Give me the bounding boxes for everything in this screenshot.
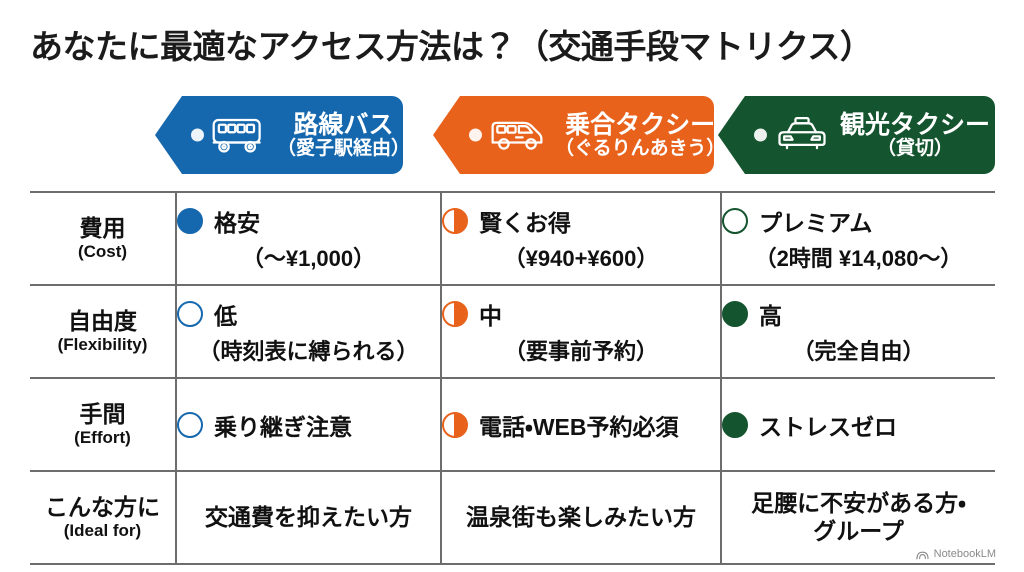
- cell-sub-text: （¥940+¥600）: [442, 241, 720, 273]
- rating-half-icon: [442, 412, 468, 438]
- cell-primary: 賢くお得: [442, 204, 720, 238]
- row-label-jp: 手間: [30, 402, 175, 428]
- cell-bus-2: 乗り継ぎ注意: [176, 378, 441, 471]
- column-header-van[interactable]: 乗合タクシー （ぐるりんあきう）: [433, 96, 714, 174]
- column-header-van-subtitle: （ぐるりんあきう）: [555, 139, 714, 159]
- row-label-en: (Cost): [30, 242, 175, 261]
- column-header-taxi-subtitle: （貸切）: [877, 139, 953, 159]
- cell-primary: 中: [442, 297, 720, 331]
- tag-hole-icon: [191, 129, 204, 142]
- cell-main-text: 足腰に不安がある方・グループ: [730, 490, 987, 545]
- rating-empty-icon: [722, 208, 748, 234]
- column-header-bus-text: 路線バス （愛子駅経由）: [277, 112, 403, 159]
- rating-half-icon: [442, 301, 468, 327]
- cell-primary: 乗り継ぎ注意: [177, 408, 440, 442]
- cell-van-1: 中（要事前予約）: [441, 285, 721, 378]
- cell-main-text: 電話・WEB予約必須: [479, 408, 678, 442]
- cell-primary: 高: [722, 297, 995, 331]
- tag-hole-icon: [754, 129, 767, 142]
- rating-half-fill: [454, 208, 466, 234]
- cell-taxi-2: ストレスゼロ: [721, 378, 995, 471]
- row-label-en: (Ideal for): [30, 521, 175, 540]
- cell-primary: 格安: [177, 204, 440, 238]
- cell-main-text: 交通費を抑えたい方: [185, 504, 432, 532]
- notebooklm-label: NotebookLM: [934, 548, 996, 560]
- cell-primary: ストレスゼロ: [722, 408, 995, 442]
- cell-main-text: 乗り継ぎ注意: [214, 408, 352, 442]
- rating-empty-icon: [177, 412, 203, 438]
- row-label-en: (Flexibility): [30, 335, 175, 354]
- cell-taxi-0: プレミアム（2時間 ¥14,080〜）: [721, 192, 995, 285]
- column-header-bus[interactable]: 路線バス （愛子駅経由）: [155, 96, 403, 174]
- tag-hole-icon: [469, 129, 482, 142]
- cell-main-text: 中: [479, 297, 502, 331]
- rating-half-icon: [442, 208, 468, 234]
- table-row: こんな方に(Ideal for)交通費を抑えたい方温泉街も楽しみたい方足腰に不安…: [30, 471, 995, 564]
- cell-main-text: ストレスゼロ: [759, 408, 897, 442]
- row-label-jp: 自由度: [30, 309, 175, 335]
- row-label-2: 手間(Effort): [30, 378, 176, 471]
- cell-primary: 電話・WEB予約必須: [442, 408, 720, 442]
- cell-primary: 低: [177, 297, 440, 331]
- cell-ideal-bus: 交通費を抑えたい方: [176, 471, 441, 564]
- cell-main-text: 高: [759, 297, 782, 331]
- column-header-taxi[interactable]: 観光タクシー （貸切）: [718, 96, 995, 174]
- table-row: 手間(Effort)乗り継ぎ注意電話・WEB予約必須ストレスゼロ: [30, 378, 995, 471]
- rating-full-icon: [722, 412, 748, 438]
- column-header-taxi-title: 観光タクシー: [840, 112, 990, 138]
- column-header-row: 路線バス （愛子駅経由） 乗合タクシー （ぐるりんあきう）: [0, 96, 1024, 174]
- page-title: あなたに最適なアクセス方法は？（交通手段マトリクス）: [30, 20, 872, 68]
- cell-bus-1: 低（時刻表に縛られる）: [176, 285, 441, 378]
- row-label-ideal: こんな方に(Ideal for): [30, 471, 176, 564]
- cell-main-text: プレミアム: [759, 204, 872, 238]
- cell-taxi-1: 高（完全自由）: [721, 285, 995, 378]
- cell-sub-text: （完全自由）: [722, 334, 995, 366]
- van-icon: [487, 113, 547, 157]
- transport-matrix-table: 費用(Cost)格安（〜¥1,000）賢くお得（¥940+¥600）プレミアム（…: [30, 191, 995, 565]
- rating-half-fill: [454, 412, 466, 438]
- cell-van-2: 電話・WEB予約必須: [441, 378, 721, 471]
- cell-bus-0: 格安（〜¥1,000）: [176, 192, 441, 285]
- cell-main-text: 低: [214, 297, 237, 331]
- row-label-en: (Effort): [30, 428, 175, 447]
- notebooklm-logo-icon: [916, 549, 929, 560]
- table-row: 費用(Cost)格安（〜¥1,000）賢くお得（¥940+¥600）プレミアム（…: [30, 192, 995, 285]
- cell-sub-text: （2時間 ¥14,080〜）: [722, 241, 995, 273]
- column-header-bus-subtitle: （愛子駅経由）: [277, 139, 403, 159]
- column-header-van-title: 乗合タクシー: [565, 112, 714, 138]
- cell-van-0: 賢くお得（¥940+¥600）: [441, 192, 721, 285]
- column-header-van-text: 乗合タクシー （ぐるりんあきう）: [555, 112, 714, 159]
- cell-sub-text: （時刻表に縛られる）: [177, 334, 440, 366]
- row-label-1: 自由度(Flexibility): [30, 285, 176, 378]
- cell-ideal-van: 温泉街も楽しみたい方: [441, 471, 721, 564]
- cell-primary: プレミアム: [722, 204, 995, 238]
- cell-main-text: 温泉街も楽しみたい方: [450, 504, 712, 532]
- row-label-jp: 費用: [30, 216, 175, 242]
- rating-half-fill: [454, 301, 466, 327]
- column-header-bus-title: 路線バス: [294, 112, 394, 138]
- table-row: 自由度(Flexibility)低（時刻表に縛られる）中（要事前予約）高（完全自…: [30, 285, 995, 378]
- bus-icon: [209, 113, 269, 157]
- cell-sub-text: （要事前予約）: [442, 334, 720, 366]
- notebooklm-watermark: NotebookLM: [916, 548, 996, 560]
- cell-sub-text: （〜¥1,000）: [177, 241, 440, 273]
- cell-main-text: 賢くお得: [479, 204, 571, 238]
- cell-main-text: 格安: [214, 204, 260, 238]
- rating-full-icon: [177, 208, 203, 234]
- slide-canvas: あなたに最適なアクセス方法は？（交通手段マトリクス）: [0, 0, 1024, 572]
- row-label-0: 費用(Cost): [30, 192, 176, 285]
- taxi-icon: [772, 113, 832, 157]
- row-label-jp: こんな方に: [30, 495, 175, 521]
- column-header-taxi-text: 観光タクシー （貸切）: [840, 112, 995, 159]
- rating-full-icon: [722, 301, 748, 327]
- rating-empty-icon: [177, 301, 203, 327]
